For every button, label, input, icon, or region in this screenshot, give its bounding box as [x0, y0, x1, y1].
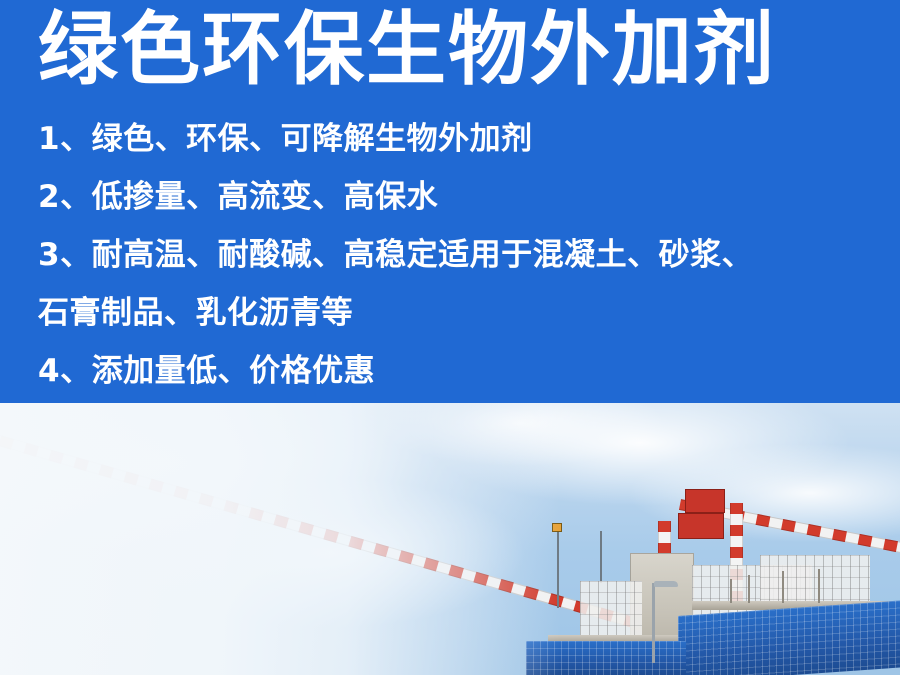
sky-haze-overlay [0, 403, 560, 675]
feature-item-3-continued: 石膏制品、乳化沥青等 [38, 284, 868, 342]
feature-list: 1、绿色、环保、可降解生物外加剂 2、低掺量、高流变、高保水 3、耐高温、耐酸碱… [38, 110, 868, 400]
feature-item-1: 1、绿色、环保、可降解生物外加剂 [38, 110, 868, 168]
rebar-2 [748, 575, 750, 603]
feature-item-2: 2、低掺量、高流变、高保水 [38, 168, 868, 226]
page-title: 绿色环保生物外加剂 [38, 4, 776, 96]
street-lamp-head [654, 581, 678, 587]
crane-counterweight-main [678, 513, 724, 539]
crane-counterweight-far [685, 489, 725, 513]
rebar-3 [782, 571, 784, 603]
product-poster: 绿色环保生物外加剂 1、绿色、环保、可降解生物外加剂 2、低掺量、高流变、高保水… [0, 0, 900, 675]
photo-section: 生物环保|一剂多效 [0, 403, 900, 675]
feature-item-3: 3、耐高温、耐酸碱、高稳定适用于混凝土、砂浆、 [38, 226, 868, 284]
crane-hoist-cable-secondary [600, 531, 602, 583]
rebar-4 [818, 569, 820, 603]
blue-banner: 绿色环保生物外加剂 1、绿色、环保、可降解生物外加剂 2、低掺量、高流变、高保水… [0, 0, 900, 403]
feature-item-4: 4、添加量低、价格优惠 [38, 342, 868, 400]
street-lamp-pole [652, 583, 655, 663]
rebar-1 [730, 579, 732, 603]
scaffolding-top [760, 555, 870, 603]
